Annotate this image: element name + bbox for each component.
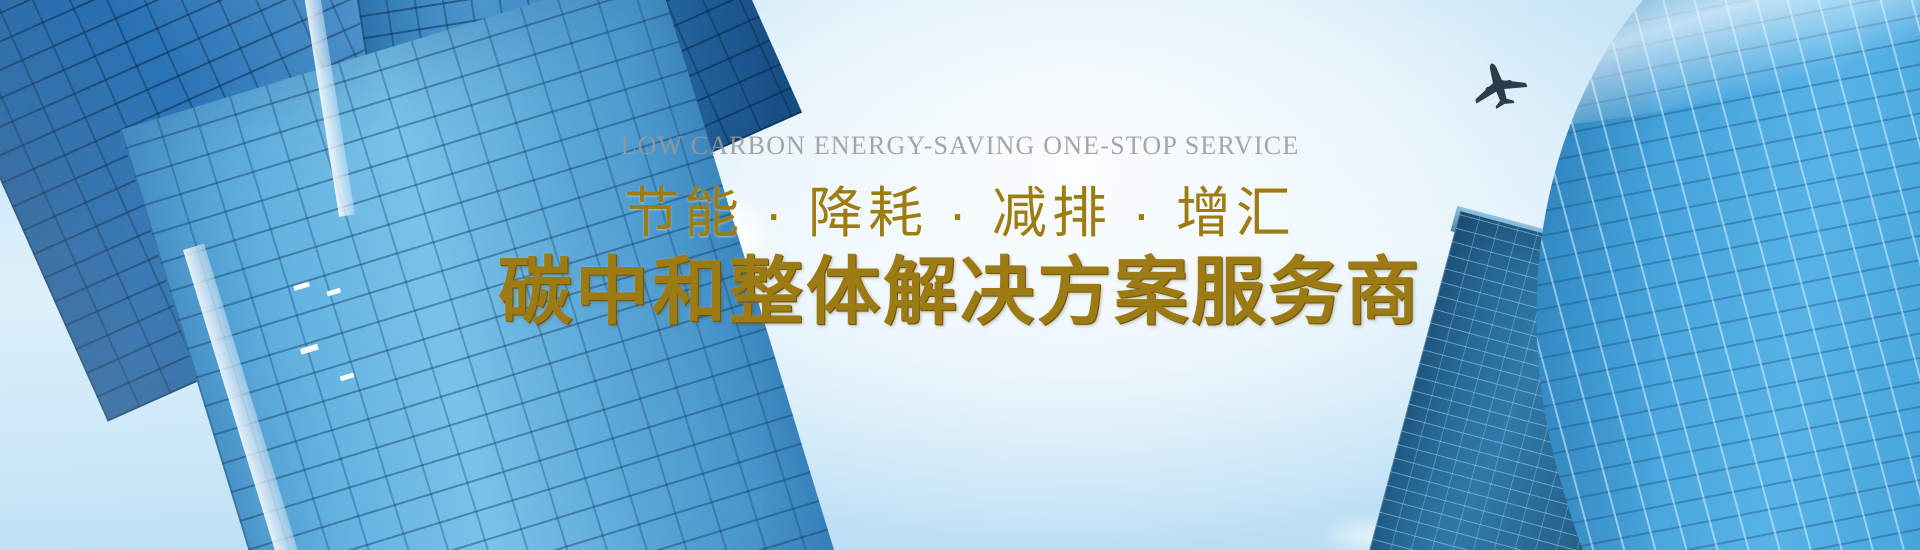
hero-banner: LOW CARBON ENERGY-SAVING ONE-STOP SERVIC… bbox=[0, 0, 1920, 550]
